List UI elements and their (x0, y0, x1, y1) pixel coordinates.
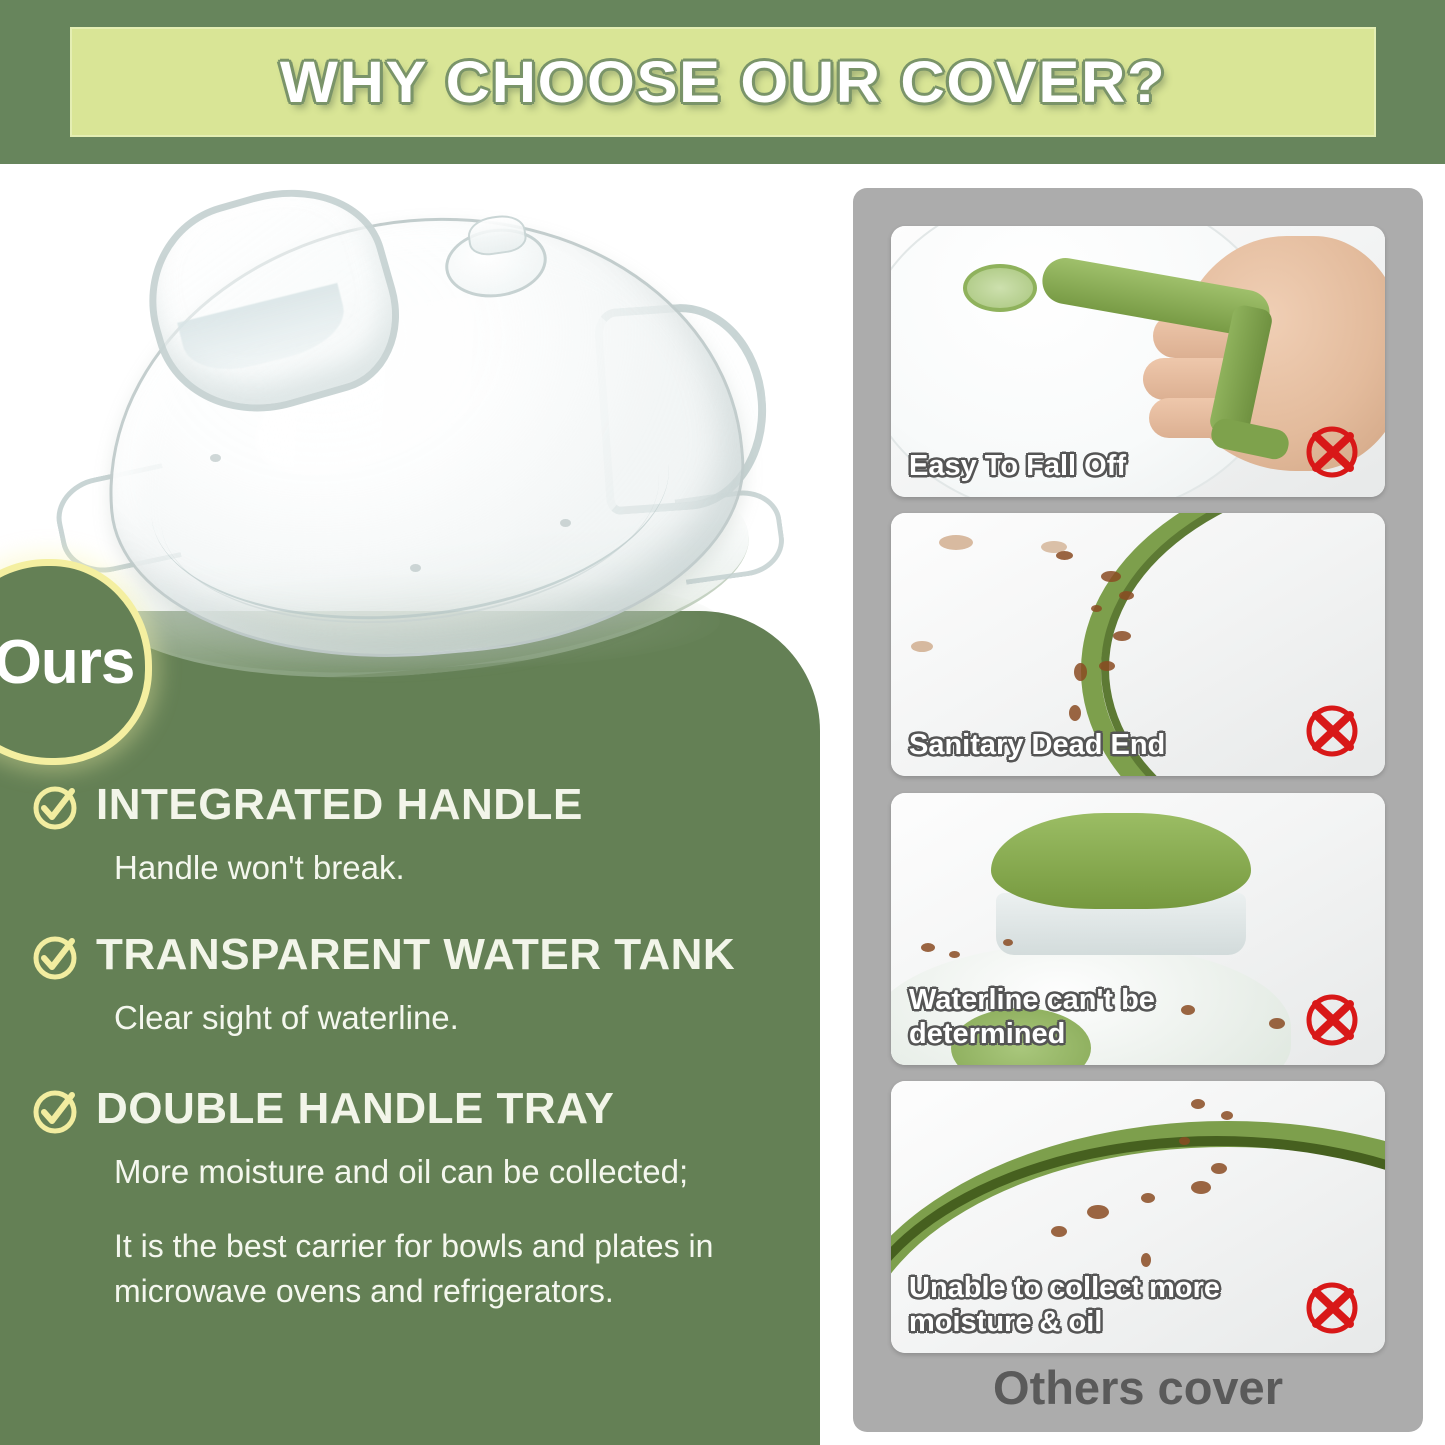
dome-dot (560, 519, 571, 527)
x-circle-icon (1301, 698, 1363, 760)
header-band: WHY CHOOSE OUR COVER? (0, 0, 1445, 164)
others-comparison-panel: Easy To Fall Off (853, 188, 1423, 1432)
product-image (40, 174, 800, 694)
page-title: WHY CHOOSE OUR COVER? (31, 27, 1415, 137)
feature-item: DOUBLE HANDLE TRAY More moisture and oil… (30, 1084, 820, 1314)
x-circle-icon (1301, 1275, 1363, 1337)
closing-paragraph: It is the best carrier for bowls and pla… (114, 1224, 820, 1314)
card-caption: Unable to collect more moisture & oil (909, 1271, 1239, 1339)
check-circle-icon (30, 932, 80, 982)
dome-dot (210, 454, 221, 462)
feature-subtitle: More moisture and oil can be collected; (114, 1150, 820, 1194)
ours-badge-label: Ours (0, 627, 134, 698)
comparison-card: Easy To Fall Off (891, 226, 1385, 497)
feature-list: INTEGRATED HANDLE Handle won't break. TR… (30, 780, 820, 1324)
feature-title: DOUBLE HANDLE TRAY (96, 1084, 614, 1134)
card-caption: Waterline can't be determined (909, 983, 1239, 1051)
comparison-card: Waterline can't be determined (891, 793, 1385, 1065)
dome-dot (410, 564, 421, 572)
x-circle-icon (1301, 987, 1363, 1049)
feature-item: TRANSPARENT WATER TANK Clear sight of wa… (30, 930, 820, 1040)
others-cover-label: Others cover (853, 1360, 1423, 1415)
title-banner: WHY CHOOSE OUR COVER? (70, 27, 1376, 137)
ours-column: Ours INTEGRATED HANDLE Handle won't brea… (0, 164, 838, 1445)
x-circle-icon (1301, 419, 1363, 481)
card-caption: Easy To Fall Off (909, 449, 1126, 483)
green-lid-handle (991, 813, 1251, 909)
comparison-card: Unable to collect more moisture & oil (891, 1081, 1385, 1353)
comparison-card: Sanitary Dead End (891, 513, 1385, 776)
check-circle-icon (30, 1086, 80, 1136)
check-circle-icon (30, 782, 80, 832)
feature-item: INTEGRATED HANDLE Handle won't break. (30, 780, 820, 890)
feature-subtitle: Handle won't break. (114, 846, 820, 890)
feature-title: INTEGRATED HANDLE (96, 780, 583, 830)
vent-disc-icon (963, 264, 1037, 312)
card-caption: Sanitary Dead End (909, 728, 1165, 762)
infographic-page: WHY CHOOSE OUR COVER? Our (0, 0, 1445, 1445)
feature-subtitle: Clear sight of waterline. (114, 996, 820, 1040)
feature-title: TRANSPARENT WATER TANK (96, 930, 735, 980)
